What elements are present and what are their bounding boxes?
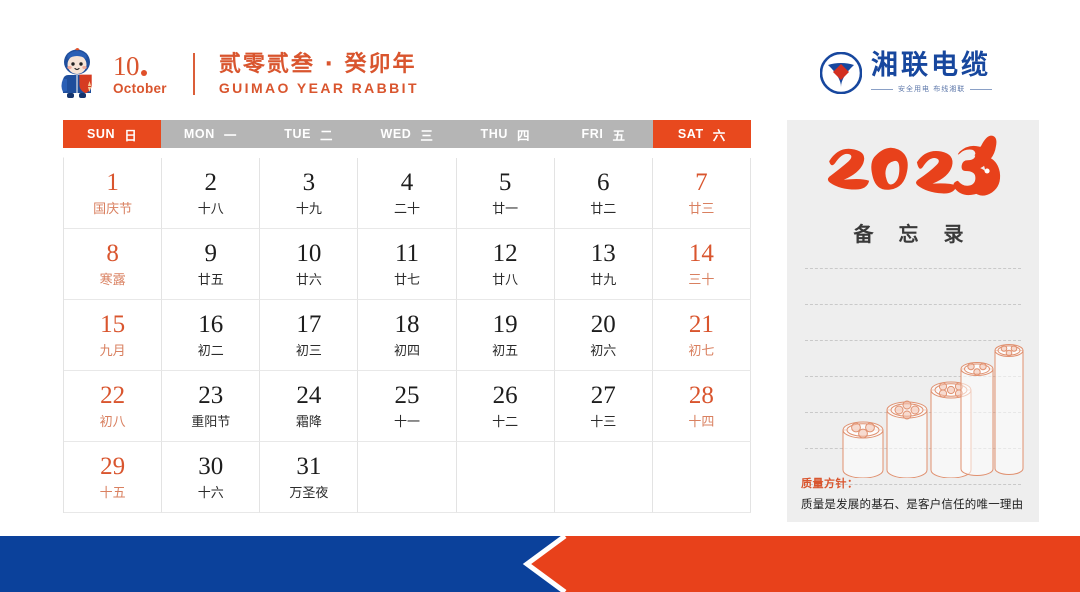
month-brand-group: 10 October 贰零贰叁 · 癸卯年 GUIMAO YEAR RABBIT — [55, 48, 419, 100]
weekday-en: TUE — [284, 127, 311, 141]
weekday-header-sun: SUN日 — [63, 120, 161, 148]
day-number: 7 — [695, 170, 708, 195]
weekday-cn: 日 — [124, 125, 137, 144]
day-number: 15 — [100, 312, 125, 337]
day-number: 22 — [100, 383, 125, 408]
day-number: 11 — [395, 241, 419, 266]
tagline-rule-right-icon — [970, 89, 992, 90]
day-cell[interactable]: 26十二 — [457, 371, 555, 442]
day-cell[interactable]: 21初七 — [653, 300, 751, 371]
day-lunar-label: 重阳节 — [191, 416, 230, 429]
memo-title: 备 忘 录 — [787, 218, 1039, 247]
weekday-header-sat: SAT六 — [653, 120, 751, 148]
policy-label: 质量方针： — [801, 475, 1037, 491]
day-number: 23 — [198, 383, 223, 408]
month-block: 10 October — [113, 53, 167, 96]
day-lunar-label: 九月 — [100, 345, 126, 358]
month-number-row: 10 — [113, 53, 147, 80]
month-name: October — [113, 82, 167, 96]
day-number: 27 — [591, 383, 616, 408]
day-lunar-label: 廿九 — [590, 274, 616, 287]
day-number: 9 — [204, 241, 217, 266]
bottom-decorative-bar — [0, 536, 1080, 592]
weekday-header-fri: FRI五 — [554, 120, 652, 148]
month-dot-icon — [141, 70, 147, 76]
memo-note-line[interactable] — [805, 304, 1021, 305]
day-lunar-label: 国庆节 — [93, 203, 132, 216]
company-tagline-row: 安全用电 布线湘联 — [871, 84, 992, 94]
day-cell[interactable]: 28十四 — [653, 371, 751, 442]
day-lunar-label: 十二 — [492, 416, 518, 429]
day-lunar-label: 二十 — [394, 203, 420, 216]
day-cell[interactable]: 11廿七 — [358, 229, 456, 300]
tagline-rule-left-icon — [871, 89, 893, 90]
day-lunar-label: 初五 — [492, 345, 518, 358]
weekday-cn: 二 — [320, 125, 333, 144]
day-number: 10 — [296, 241, 321, 266]
calendar-grid: SUN日MON一TUE二WED三THU四FRI五SAT六 1国庆节2十八3十九4… — [63, 120, 751, 513]
day-lunar-label: 十三 — [590, 416, 616, 429]
day-cell[interactable]: 3十九 — [260, 158, 358, 229]
day-number: 14 — [689, 241, 714, 266]
page-header: 10 October 贰零贰叁 · 癸卯年 GUIMAO YEAR RABBIT… — [0, 0, 1080, 112]
day-lunar-label: 廿八 — [492, 274, 518, 287]
cable-cross-section-bars-icon — [839, 338, 1039, 478]
weekday-cn: 三 — [420, 125, 433, 144]
day-lunar-label: 廿五 — [198, 274, 224, 287]
weekday-cn: 四 — [517, 125, 530, 144]
weekday-cn: 一 — [224, 125, 237, 144]
day-cell[interactable]: 4二十 — [358, 158, 456, 229]
day-lunar-label: 廿二 — [590, 203, 616, 216]
weekday-en: SAT — [678, 127, 704, 141]
day-cell[interactable]: 6廿二 — [555, 158, 653, 229]
day-lunar-label: 初七 — [688, 345, 714, 358]
day-number: 13 — [591, 241, 616, 266]
day-lunar-label: 十九 — [296, 203, 322, 216]
day-lunar-label: 初八 — [100, 416, 126, 429]
weekday-cn: 五 — [612, 125, 625, 144]
day-number: 19 — [493, 312, 518, 337]
day-cell[interactable]: 24霜降 — [260, 371, 358, 442]
day-lunar-label: 初三 — [296, 345, 322, 358]
day-cell[interactable]: 8寒露 — [64, 229, 162, 300]
mascot-character-icon — [55, 48, 103, 100]
day-cell[interactable]: 29十五 — [64, 442, 162, 513]
day-lunar-label: 廿一 — [492, 203, 518, 216]
month-number: 10 — [113, 53, 139, 80]
weekday-header-thu: THU四 — [456, 120, 554, 148]
day-number: 24 — [296, 383, 321, 408]
company-text-block: 湘联电缆 安全用电 布线湘联 — [871, 52, 992, 94]
day-number: 16 — [198, 312, 223, 337]
day-cell[interactable]: 19初五 — [457, 300, 555, 371]
day-cell-empty — [653, 442, 751, 513]
day-cell[interactable]: 25十一 — [358, 371, 456, 442]
day-lunar-label: 十四 — [688, 416, 714, 429]
year-block: 贰零贰叁 · 癸卯年 GUIMAO YEAR RABBIT — [219, 53, 419, 96]
day-lunar-label: 初四 — [394, 345, 420, 358]
day-number: 28 — [689, 383, 714, 408]
day-number: 21 — [689, 312, 714, 337]
day-lunar-label: 廿六 — [296, 274, 322, 287]
day-number: 20 — [591, 312, 616, 337]
weekday-header-row: SUN日MON一TUE二WED三THU四FRI五SAT六 — [63, 120, 751, 148]
weekday-en: THU — [480, 127, 508, 141]
year-english-label: GUIMAO YEAR RABBIT — [219, 81, 419, 96]
day-number: 12 — [493, 241, 518, 266]
day-lunar-label: 十八 — [198, 203, 224, 216]
day-cell[interactable]: 27十三 — [555, 371, 653, 442]
day-cell[interactable]: 22初八 — [64, 371, 162, 442]
day-cell-empty — [358, 442, 456, 513]
day-cell[interactable]: 10廿六 — [260, 229, 358, 300]
day-cell[interactable]: 20初六 — [555, 300, 653, 371]
day-cell[interactable]: 5廿一 — [457, 158, 555, 229]
day-cell[interactable]: 12廿八 — [457, 229, 555, 300]
weekday-en: MON — [184, 127, 215, 141]
company-name: 湘联电缆 — [871, 52, 992, 79]
weekday-header-tue: TUE二 — [260, 120, 358, 148]
day-number: 31 — [296, 454, 321, 479]
day-number: 4 — [401, 170, 414, 195]
day-lunar-label: 廿七 — [394, 274, 420, 287]
day-cell[interactable]: 30十六 — [162, 442, 260, 513]
day-lunar-label: 廿三 — [688, 203, 714, 216]
weekday-cn: 六 — [713, 125, 726, 144]
day-cell[interactable]: 16初二 — [162, 300, 260, 371]
company-emblem-icon — [820, 52, 862, 94]
weekday-en: SUN — [87, 127, 115, 141]
memo-note-line[interactable] — [805, 268, 1021, 269]
day-number: 2 — [204, 170, 217, 195]
day-cell[interactable]: 7廿三 — [653, 158, 751, 229]
calendar-page: 10 October 贰零贰叁 · 癸卯年 GUIMAO YEAR RABBIT… — [0, 0, 1080, 592]
weekday-en: WED — [380, 127, 411, 141]
day-lunar-label: 三十 — [688, 274, 714, 287]
company-tagline: 安全用电 布线湘联 — [898, 84, 965, 94]
weekday-en: FRI — [582, 127, 604, 141]
vertical-divider-icon — [193, 53, 195, 95]
day-number: 5 — [499, 170, 512, 195]
day-cell[interactable]: 15九月 — [64, 300, 162, 371]
day-lunar-label: 万圣夜 — [289, 487, 328, 500]
company-brand-group: 湘联电缆 安全用电 布线湘联 — [820, 52, 992, 94]
memo-panel: 备 忘 录 — [787, 120, 1039, 522]
brush-2023-rabbit-icon — [815, 132, 1011, 210]
day-number: 8 — [106, 241, 119, 266]
day-lunar-label: 十一 — [394, 416, 420, 429]
day-number: 26 — [493, 383, 518, 408]
day-number: 3 — [303, 170, 316, 195]
day-number: 1 — [106, 170, 119, 195]
day-cell[interactable]: 14三十 — [653, 229, 751, 300]
day-lunar-label: 初六 — [590, 345, 616, 358]
day-number: 25 — [394, 383, 419, 408]
day-grid: 1国庆节2十八3十九4二十5廿一6廿二7廿三8寒露9廿五10廿六11廿七12廿八… — [63, 157, 751, 513]
day-cell[interactable]: 18初四 — [358, 300, 456, 371]
day-lunar-label: 初二 — [198, 345, 224, 358]
day-number: 18 — [394, 312, 419, 337]
day-number: 17 — [296, 312, 321, 337]
day-number: 6 — [597, 170, 610, 195]
weekday-header-wed: WED三 — [358, 120, 456, 148]
year-chinese-label: 贰零贰叁 · 癸卯年 — [219, 53, 419, 76]
day-cell-empty — [457, 442, 555, 513]
day-cell[interactable]: 17初三 — [260, 300, 358, 371]
bottom-bar-blue — [0, 536, 565, 592]
day-cell-empty — [555, 442, 653, 513]
day-lunar-label: 十五 — [100, 487, 126, 500]
day-number: 29 — [100, 454, 125, 479]
day-number: 30 — [198, 454, 223, 479]
quality-policy-block: 质量方针： 质量是发展的基石、是客户信任的唯一理由 — [801, 475, 1037, 512]
day-lunar-label: 寒露 — [100, 274, 126, 287]
policy-text: 质量是发展的基石、是客户信任的唯一理由 — [801, 496, 1037, 512]
day-cell[interactable]: 23重阳节 — [162, 371, 260, 442]
day-lunar-label: 霜降 — [296, 416, 322, 429]
day-cell[interactable]: 31万圣夜 — [260, 442, 358, 513]
day-cell[interactable]: 9廿五 — [162, 229, 260, 300]
weekday-header-mon: MON一 — [161, 120, 259, 148]
day-cell[interactable]: 2十八 — [162, 158, 260, 229]
day-cell[interactable]: 13廿九 — [555, 229, 653, 300]
day-cell[interactable]: 1国庆节 — [64, 158, 162, 229]
day-lunar-label: 十六 — [198, 487, 224, 500]
